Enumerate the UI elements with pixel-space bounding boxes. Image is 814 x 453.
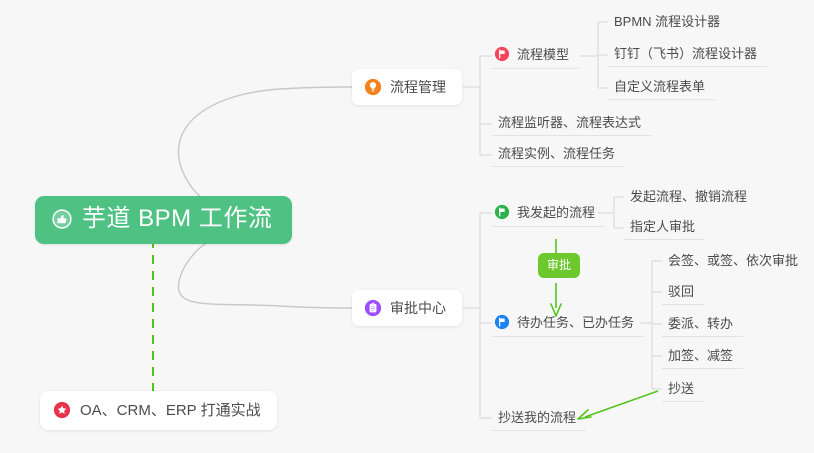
sub-label-process-model: 流程模型 — [517, 48, 569, 61]
leaf-node-process-listener-expression[interactable]: 流程监听器、流程表达式 — [492, 112, 651, 136]
sub-label-my-initiated-process: 我发起的流程 — [517, 206, 595, 219]
sub-node-process-model[interactable]: 流程模型 — [492, 42, 579, 69]
flag-icon — [494, 314, 510, 330]
flag-icon — [494, 46, 510, 62]
callout-node-integration[interactable]: OA、CRM、ERP 打通实战 — [40, 391, 277, 430]
location-bulb-icon — [364, 78, 382, 96]
leaf-node-countersign-or-sequential[interactable]: 会签、或签、依次审批 — [662, 250, 808, 273]
flag-icon — [494, 204, 510, 220]
mindmap-canvas: 芋道 BPM 工作流 流程管理 流程模型 BPMN 流程设计器 钉钉（飞书）流程… — [0, 0, 814, 453]
leaf-node-cc-to-me-process[interactable]: 抄送我的流程 — [492, 407, 586, 431]
branch-node-process-management[interactable]: 流程管理 — [352, 69, 462, 105]
leaf-node-delegate-transfer[interactable]: 委派、转办 — [662, 313, 743, 337]
leaf-node-dingtalk-feishu-designer[interactable]: 钉钉（飞书）流程设计器 — [608, 43, 767, 67]
leaf-node-custom-process-form[interactable]: 自定义流程表单 — [608, 76, 715, 100]
sub-node-my-initiated-process[interactable]: 我发起的流程 — [492, 200, 605, 227]
callout-label-integration: OA、CRM、ERP 打通实战 — [80, 403, 261, 418]
cc-arrow-shaft — [585, 391, 658, 417]
root-node[interactable]: 芋道 BPM 工作流 — [35, 196, 292, 244]
branch-label-approval-center: 审批中心 — [390, 301, 446, 315]
sub-node-todo-done-tasks[interactable]: 待办任务、已办任务 — [492, 310, 644, 337]
leaf-node-assignee-approval[interactable]: 指定人审批 — [624, 216, 705, 240]
thumbs-up-icon — [51, 208, 73, 230]
leaf-node-add-remove-sign[interactable]: 加签、减签 — [662, 345, 743, 369]
branch-node-approval-center[interactable]: 审批中心 — [352, 290, 462, 326]
leaf-node-bpmn-designer[interactable]: BPMN 流程设计器 — [608, 11, 730, 34]
annotation-badge-approval: 审批 — [538, 253, 580, 278]
leaf-node-reject[interactable]: 驳回 — [662, 281, 704, 305]
leaf-node-carbon-copy[interactable]: 抄送 — [662, 378, 704, 402]
leaf-node-start-cancel-process[interactable]: 发起流程、撤销流程 — [624, 186, 757, 209]
star-icon — [53, 401, 71, 419]
leaf-node-process-instance-task[interactable]: 流程实例、流程任务 — [492, 143, 625, 167]
root-label: 芋道 BPM 工作流 — [82, 207, 272, 231]
branch-label-process-management: 流程管理 — [390, 80, 446, 94]
clipboard-icon — [364, 299, 382, 317]
sub-label-todo-done-tasks: 待办任务、已办任务 — [517, 316, 634, 329]
